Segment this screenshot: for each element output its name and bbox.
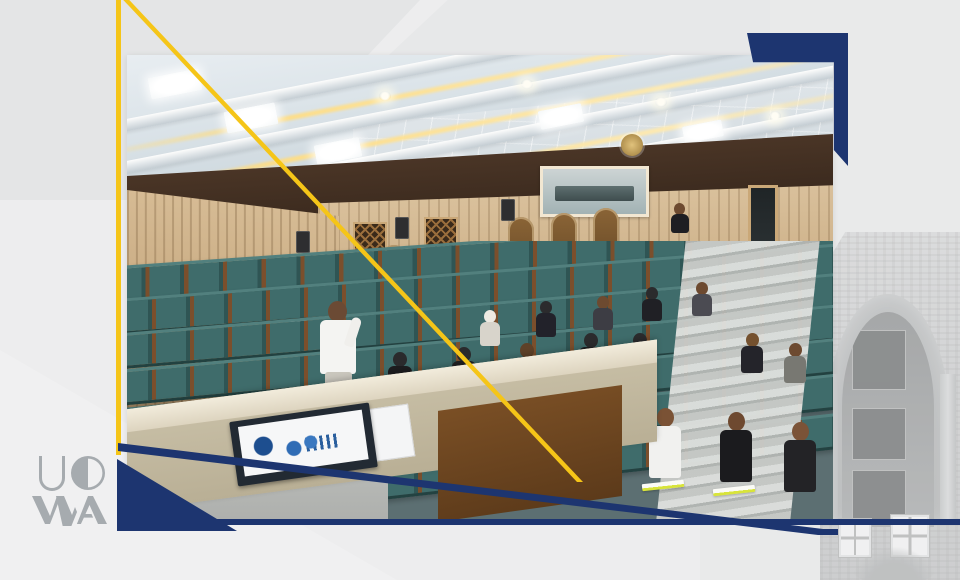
- ceiling-downlight-3: [655, 97, 667, 107]
- photo-scene: B C D E F: [127, 55, 833, 519]
- audience-torso: [784, 356, 806, 383]
- audience-head: [657, 408, 674, 427]
- audience-member: [536, 301, 556, 337]
- ceiling-downlight-2: [521, 79, 533, 89]
- projection-booth-window: [540, 166, 649, 217]
- wall-speaker-2: [395, 217, 409, 239]
- uowa-logo: UOWA: [30, 452, 112, 526]
- faded-campus-building-image: [820, 232, 960, 580]
- banner-canvas: B C D E F: [0, 0, 960, 580]
- audience-torso: [671, 214, 689, 233]
- audience-member: [784, 422, 816, 492]
- wall-emblem: [621, 134, 643, 156]
- building-window-mid: [852, 408, 906, 460]
- audience-head-hijab: [457, 347, 471, 362]
- ceiling-downlight-4: [769, 111, 781, 121]
- presenter-head: [328, 301, 347, 322]
- audience-head: [728, 412, 745, 431]
- audience-member-back-row: [671, 203, 689, 233]
- wall-speaker-3: [501, 199, 515, 221]
- audience-torso: [692, 294, 712, 316]
- building-column-right: [940, 374, 956, 524]
- audience-torso: [784, 440, 816, 492]
- audience-head: [792, 422, 809, 441]
- building-shrub: [850, 546, 938, 580]
- audience-head: [789, 343, 802, 357]
- uowa-logo-text: UOWA: [30, 526, 31, 527]
- audience-torso: [720, 430, 752, 482]
- yellow-vertical-line: [116, 0, 121, 455]
- audience-member: [593, 296, 613, 330]
- lecture-hall-photo: B C D E F: [127, 55, 833, 519]
- uowa-logo-mark: [30, 452, 112, 526]
- ceiling-downlight-1: [379, 91, 391, 101]
- audience-member: [720, 412, 752, 482]
- audience-torso: [642, 299, 662, 321]
- building-arch-inner: [842, 312, 934, 527]
- audience-head: [746, 333, 759, 347]
- audience-member: [784, 343, 806, 383]
- audience-head-hijab: [584, 333, 598, 348]
- audience-torso: [741, 346, 763, 373]
- building-window-upper: [852, 330, 906, 390]
- audience-member: [692, 282, 712, 316]
- audience-member: [642, 287, 662, 321]
- audience-member: [741, 333, 763, 373]
- audience-torso: [536, 313, 556, 337]
- audience-head-hijab: [393, 352, 407, 367]
- audience-torso: [593, 308, 613, 330]
- audience-torso: [480, 322, 500, 346]
- audience-member: [480, 310, 500, 346]
- audience-head-hijab: [540, 301, 552, 314]
